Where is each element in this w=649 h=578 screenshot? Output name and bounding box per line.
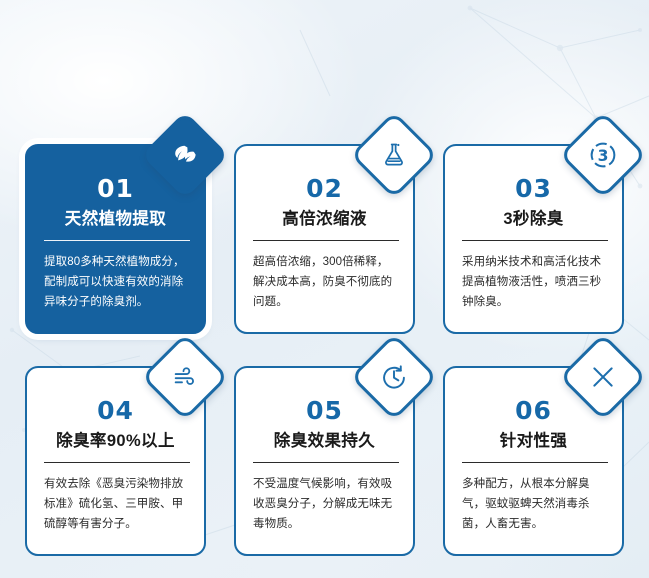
card-divider — [253, 240, 399, 241]
card-divider — [462, 240, 608, 241]
card-description: 采用纳米技术和高活化技术提高植物液活性，喷洒三秒钟除臭。 — [462, 252, 605, 312]
card-divider — [44, 462, 190, 463]
card-title: 针对性强 — [462, 431, 605, 451]
card-title: 除臭效果持久 — [253, 431, 396, 451]
card-title: 高倍浓缩液 — [253, 209, 396, 229]
number-three-circle-icon: 3 — [588, 140, 618, 170]
wind-icon — [171, 363, 199, 391]
card-description: 不受温度气候影响，有效吸收恶臭分子，分解成无味无毒物质。 — [253, 474, 396, 534]
feature-card-03[interactable]: 03 3秒除臭 采用纳米技术和高活化技术提高植物液活性，喷洒三秒钟除臭。 3 — [436, 128, 631, 334]
card-divider — [462, 462, 608, 463]
card-description: 超高倍浓缩，300倍稀释，解决成本高，防臭不彻底的问题。 — [253, 252, 396, 312]
card-title: 除臭率90%以上 — [44, 431, 187, 451]
svg-text:3: 3 — [598, 147, 609, 165]
flask-icon — [380, 141, 408, 169]
feature-card-06[interactable]: 06 针对性强 多种配方，从根本分解臭气，驱蚊驱蜱天然消毒杀菌，人畜无害。 — [436, 350, 631, 557]
card-description: 有效去除《恶臭污染物排放标准》硫化氢、三甲胺、甲硫醇等有害分子。 — [44, 474, 187, 534]
card-divider — [253, 462, 399, 463]
feature-card-grid: 01 天然植物提取 提取80多种天然植物成分，配制成可以快速有效的消除异味分子的… — [0, 128, 649, 557]
feature-card-04[interactable]: 04 除臭率90%以上 有效去除《恶臭污染物排放标准》硫化氢、三甲胺、甲硫醇等有… — [18, 350, 213, 557]
card-title: 天然植物提取 — [44, 209, 187, 229]
feature-card-01[interactable]: 01 天然植物提取 提取80多种天然植物成分，配制成可以快速有效的消除异味分子的… — [18, 128, 213, 334]
card-description: 提取80多种天然植物成分，配制成可以快速有效的消除异味分子的除臭剂。 — [44, 252, 187, 312]
card-title: 3秒除臭 — [462, 209, 605, 229]
card-divider — [44, 240, 190, 241]
page-root: 蓝天除臭剂·专为异味而生 BLUE SKY DEODORANTS ARE MAD… — [0, 0, 649, 578]
clock-history-icon — [380, 363, 409, 392]
leaf-icon — [172, 142, 199, 169]
feature-card-02[interactable]: 02 高倍浓缩液 超高倍浓缩，300倍稀释，解决成本高，防臭不彻底的问题。 — [227, 128, 422, 334]
feature-card-05[interactable]: 05 除臭效果持久 不受温度气候影响，有效吸收恶臭分子，分解成无味无毒物质。 — [227, 350, 422, 557]
card-description: 多种配方，从根本分解臭气，驱蚊驱蜱天然消毒杀菌，人畜无害。 — [462, 474, 605, 534]
crosshair-target-icon — [589, 363, 617, 391]
